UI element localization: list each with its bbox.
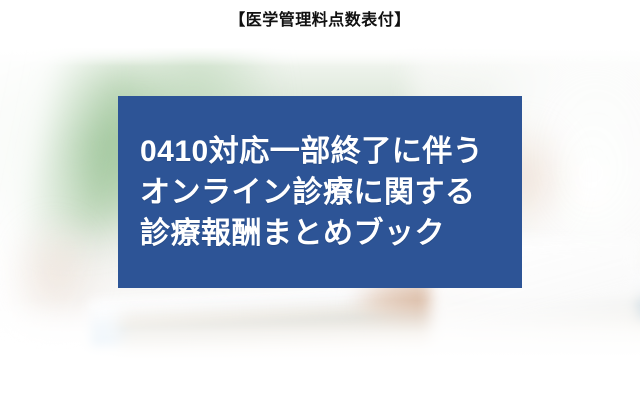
footer: CLINICS オンライン診療 1 <box>0 360 640 400</box>
hero-title-line-2: オンライン診療に関する <box>140 172 522 213</box>
hero-title-card: 0410対応一部終了に伴う オンライン診療に関する 診療報酬まとめブック <box>118 96 522 288</box>
slide-root: 【医学管理料点数表付】 0410対応一部終了に伴う オンライン診療に関する 診療… <box>0 0 640 400</box>
hero-title-line-3: 診療報酬まとめブック <box>140 213 522 254</box>
page-title: 【医学管理料点数表付】 <box>0 9 640 33</box>
hero-title-line-1: 0410対応一部終了に伴う <box>140 131 522 172</box>
photo-bottom-fade <box>0 300 640 360</box>
photo-top-fade <box>0 48 640 66</box>
